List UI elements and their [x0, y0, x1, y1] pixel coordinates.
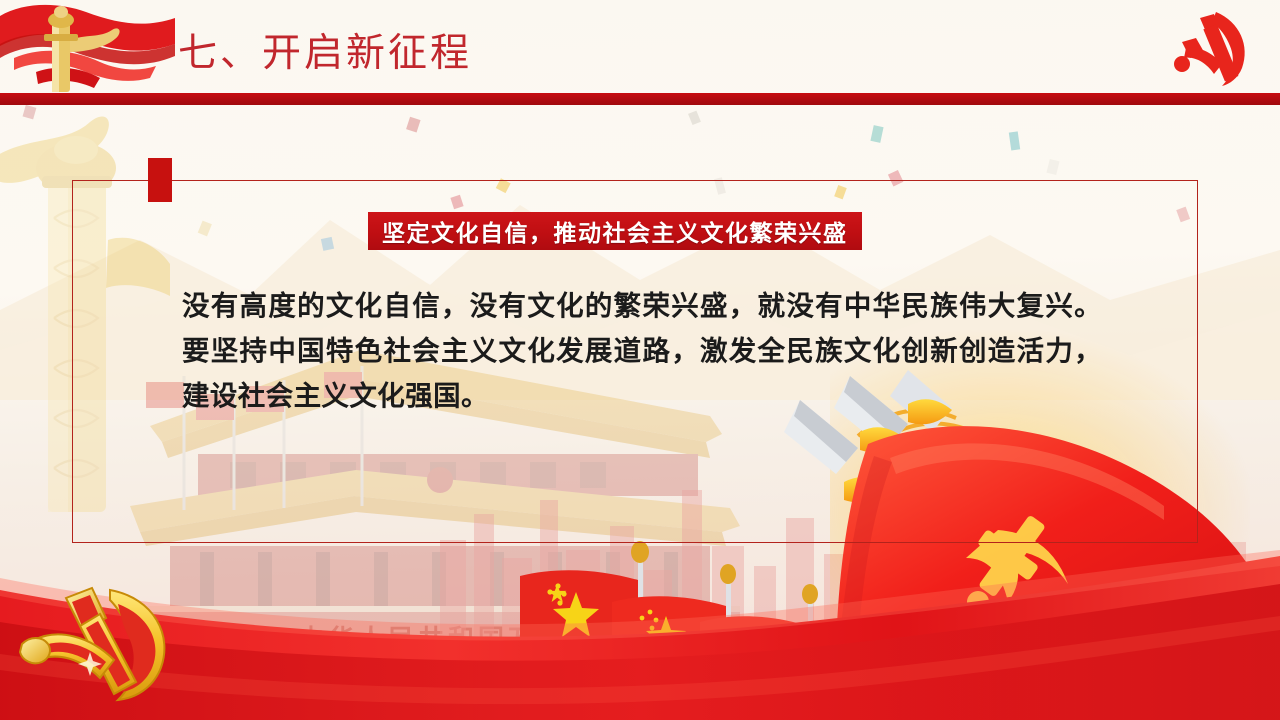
header-divider: [0, 93, 1280, 105]
header-bar: 七、开启新征程: [0, 0, 1280, 104]
red-flag-huabiao-icon: [0, 0, 175, 95]
section-banner: 坚定文化自信，推动社会主义文化繁荣兴盛: [368, 212, 862, 250]
party-emblem-gold-icon: [14, 574, 204, 704]
frame-accent-tab: [148, 158, 172, 202]
page-title: 七、开启新征程: [178, 22, 472, 78]
hammer-sickle-icon: [1160, 8, 1256, 90]
slide-root: 中华人民共和国万岁: [0, 0, 1280, 720]
banner-title: 坚定文化自信，推动社会主义文化繁荣兴盛: [382, 214, 848, 248]
body-paragraph: 没有高度的文化自信，没有文化的繁荣兴盛，就没有中华民族伟大复兴。要坚持中国特色社…: [182, 284, 1102, 419]
